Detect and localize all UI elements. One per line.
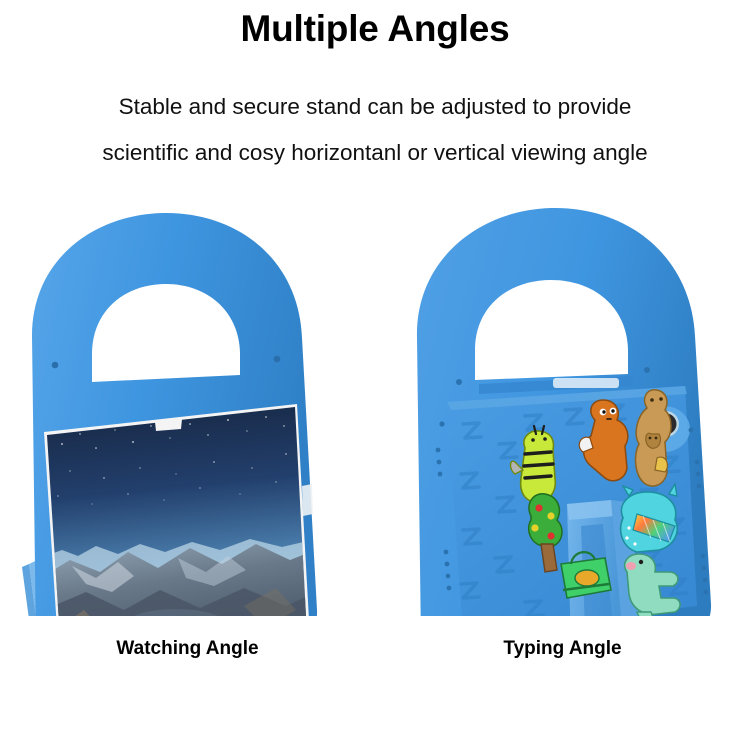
page-title: Multiple Angles [0, 6, 750, 52]
tablet-back-view [375, 186, 750, 616]
page-description: Stable and secure stand can be adjusted … [0, 84, 750, 176]
description-line-1: Stable and secure stand can be adjusted … [0, 84, 750, 130]
description-line-2: scientific and cosy horizontanl or verti… [0, 130, 750, 176]
caption-watching-angle: Watching Angle [0, 638, 375, 660]
panel-watching-angle: Watching Angle [0, 186, 375, 696]
button-hole-left-2 [274, 356, 281, 363]
panel-typing-angle: Typing Angle [375, 186, 750, 696]
caption-typing-angle: Typing Angle [375, 638, 750, 660]
tablet-front-view [0, 186, 375, 616]
button-hole-left-1 [52, 362, 59, 369]
tablet-screen-left [40, 401, 320, 616]
decor-cyan-bird [621, 484, 678, 552]
port-cutout-left [302, 484, 313, 516]
product-panels: Watching Angle [0, 186, 750, 696]
